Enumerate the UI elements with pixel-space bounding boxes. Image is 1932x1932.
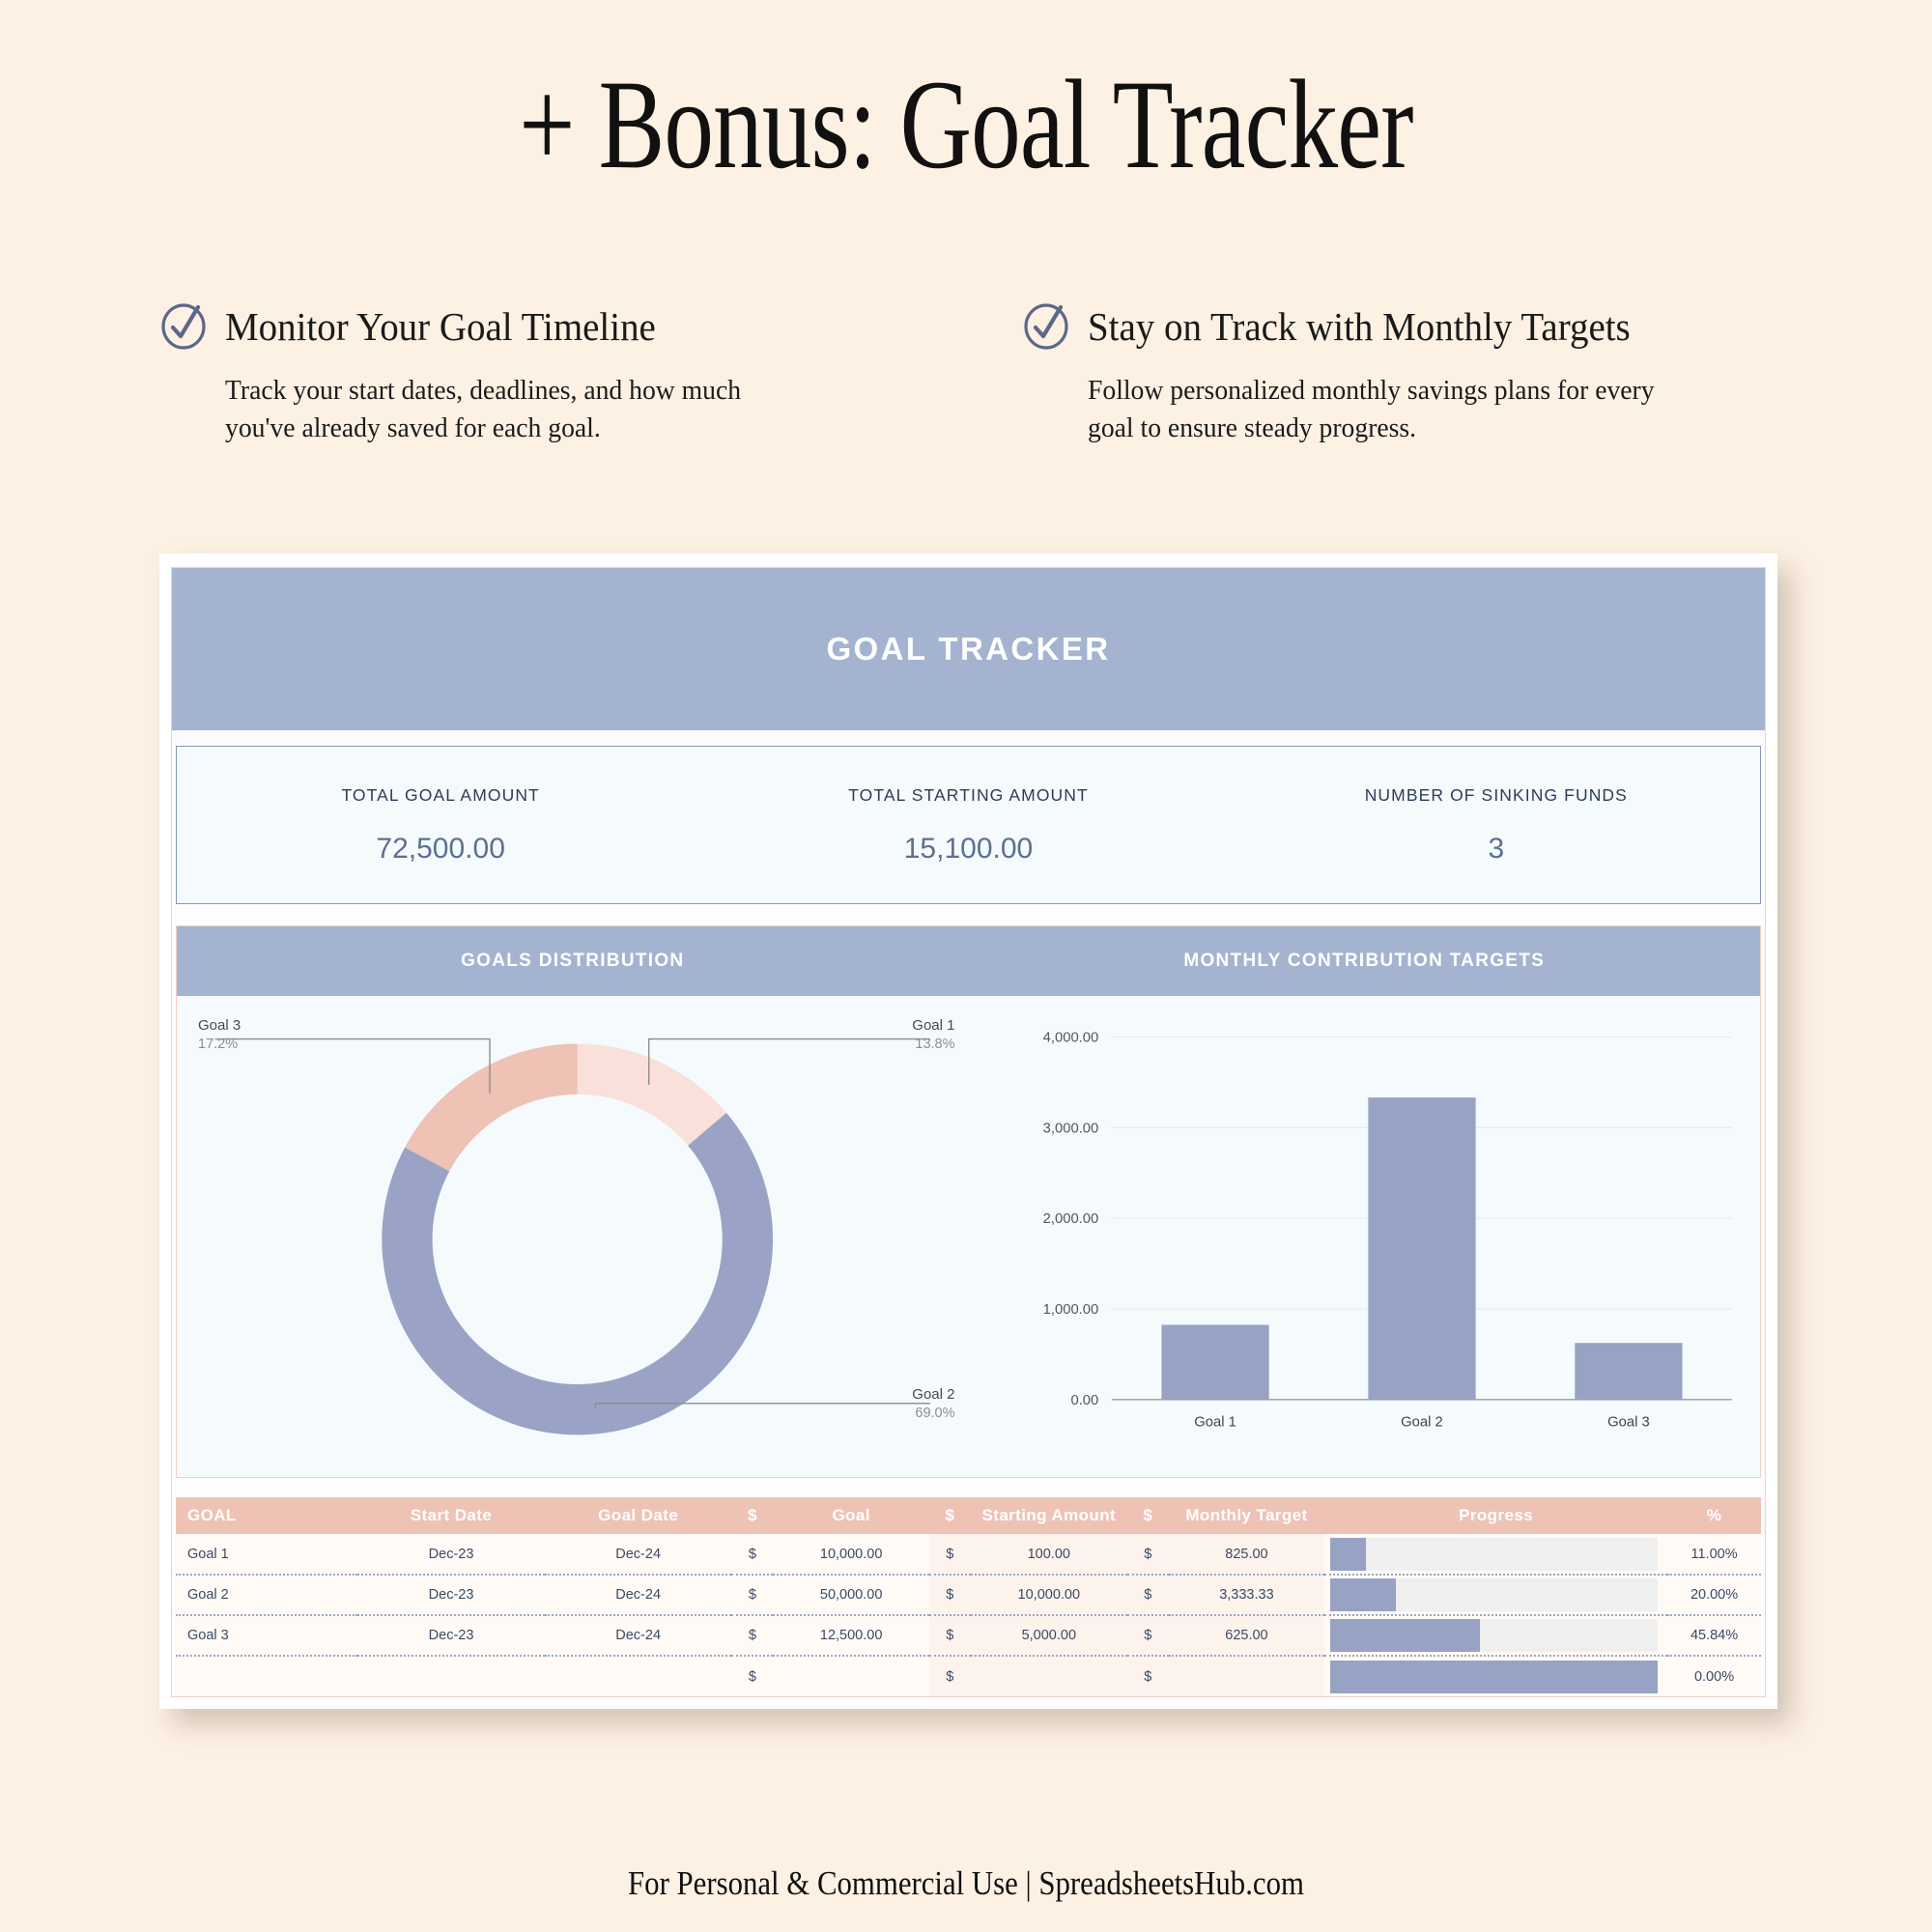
bar-chart-ytick-label: 2,000.00 [1042,1211,1098,1227]
feature-heading: Stay on Track with Monthly Targets [1022,302,1719,351]
cell-currency-2: $ [929,1656,971,1696]
bar-chart-ytick-label: 0.00 [1070,1393,1098,1408]
donut-label-goal-2: Goal 2 69.0% [912,1386,954,1422]
bar-goal-2 [1368,1097,1475,1400]
th-goal-date: Goal Date [545,1497,732,1534]
progress-bar-fill [1330,1661,1658,1693]
cell-goal-name [176,1656,357,1696]
table-body: Goal 1Dec-23Dec-24$10,000.00$100.00$825.… [176,1534,1761,1696]
summary-total-starting-amount: TOTAL STARTING AMOUNT 15,100.00 [704,747,1232,903]
feature-heading: Monitor Your Goal Timeline [159,302,904,351]
feature-description: Follow personalized monthly savings plan… [1088,372,1668,448]
sheet-banner: GOAL TRACKER [172,568,1765,730]
progress-bar-track [1330,1578,1658,1611]
feature-list: Monitor Your Goal Timeline Track your st… [0,302,1932,448]
footer-text: For Personal & Commercial Use | Spreadsh… [116,1864,1816,1903]
cell-percent: 0.00% [1667,1656,1761,1696]
donut-label-name: Goal 1 [912,1017,954,1034]
table-row: Goal 3Dec-23Dec-24$12,500.00$5,000.00$62… [176,1615,1761,1656]
th-goal-amount: Goal [773,1497,928,1534]
bar-chart-ytick-label: 1,000.00 [1042,1302,1098,1318]
cell-starting-amount [971,1656,1127,1696]
summary-value: 3 [1488,833,1504,866]
cell-goal-date [545,1656,732,1696]
feature-item-monthly-targets: Stay on Track with Monthly Targets Follo… [974,302,1788,448]
bar-chart-xtick-label: Goal 2 [1401,1414,1443,1430]
bar-chart-ytick-label: 3,000.00 [1042,1121,1098,1136]
cell-percent: 20.00% [1667,1575,1761,1615]
progress-bar-track [1330,1538,1658,1571]
bar-chart-xtick-label: Goal 1 [1194,1414,1236,1430]
page-title: + Bonus: Goal Tracker [213,0,1719,198]
cell-progress [1324,1575,1667,1615]
table-row: $$$0.00% [176,1656,1761,1696]
cell-currency-1: $ [731,1534,773,1575]
cell-percent: 45.84% [1667,1615,1761,1656]
summary-number-of-sinking-funds: NUMBER OF SINKING FUNDS 3 [1233,747,1760,903]
donut-label-percent: 13.8% [912,1036,954,1053]
cell-goal-date: Dec-24 [545,1575,732,1615]
feature-title: Stay on Track with Monthly Targets [1088,303,1631,350]
cell-percent: 11.00% [1667,1534,1761,1575]
check-circle-icon [1022,302,1070,351]
summary-total-goal-amount: TOTAL GOAL AMOUNT 72,500.00 [177,747,704,903]
cell-monthly-target: 825.00 [1169,1534,1324,1575]
cell-currency-2: $ [929,1575,971,1615]
table-row: Goal 1Dec-23Dec-24$10,000.00$100.00$825.… [176,1534,1761,1575]
cell-start-date: Dec-23 [357,1575,545,1615]
feature-title: Monitor Your Goal Timeline [225,303,656,350]
summary-label: NUMBER OF SINKING FUNDS [1365,785,1628,806]
cell-currency-3: $ [1127,1575,1169,1615]
cell-goal-name: Goal 2 [176,1575,357,1615]
bar-chart-ytick-label: 4,000.00 [1042,1031,1098,1046]
cell-currency-2: $ [929,1534,971,1575]
progress-bar-track [1330,1661,1658,1693]
cell-start-date [357,1656,545,1696]
cell-goal-name: Goal 1 [176,1534,357,1575]
donut-callout-labels: Goal 3 17.2% Goal 1 13.8% Goal 2 69.0% [177,996,969,1477]
goal-tracker-sheet: GOAL TRACKER TOTAL GOAL AMOUNT 72,500.00… [171,567,1766,1697]
cell-goal-amount: 10,000.00 [773,1534,928,1575]
th-progress: Progress [1324,1497,1667,1534]
feature-description: Track your start dates, deadlines, and h… [225,372,806,448]
th-goal: GOAL [176,1497,357,1534]
cell-progress [1324,1534,1667,1575]
table-header-row: GOAL Start Date Goal Date $ Goal $ Start… [176,1497,1761,1534]
feature-item-monitor-goal-timeline: Monitor Your Goal Timeline Track your st… [159,302,974,448]
bar-goal-3 [1575,1343,1682,1400]
cell-start-date: Dec-23 [357,1534,545,1575]
goals-data-table: GOAL Start Date Goal Date $ Goal $ Start… [176,1497,1761,1696]
cell-currency-3: $ [1127,1656,1169,1696]
cell-goal-amount [773,1656,928,1696]
donut-label-name: Goal 3 [198,1017,241,1034]
charts-panel: GOALS DISTRIBUTION MONTHLY CONTRIBUTION … [176,925,1761,1478]
th-starting-amount: Starting Amount [971,1497,1127,1534]
cell-monthly-target: 625.00 [1169,1615,1324,1656]
summary-bar: TOTAL GOAL AMOUNT 72,500.00 TOTAL STARTI… [176,746,1761,904]
cell-currency-3: $ [1127,1534,1169,1575]
summary-value: 15,100.00 [904,833,1033,866]
check-circle-icon [159,302,208,351]
bar-chart-xtick-label: Goal 3 [1607,1414,1650,1430]
th-start-date: Start Date [357,1497,545,1534]
bar-goal-1 [1161,1324,1268,1399]
cell-goal-date: Dec-24 [545,1534,732,1575]
cell-currency-1: $ [731,1615,773,1656]
th-currency-3: $ [1127,1497,1169,1534]
progress-bar-track [1330,1619,1658,1652]
cell-goal-name: Goal 3 [176,1615,357,1656]
summary-label: TOTAL STARTING AMOUNT [848,785,1089,806]
cell-starting-amount: 100.00 [971,1534,1127,1575]
goals-distribution-donut-chart: Goal 3 17.2% Goal 1 13.8% Goal 2 69.0% [177,996,969,1477]
cell-starting-amount: 5,000.00 [971,1615,1127,1656]
summary-value: 72,500.00 [376,833,504,866]
bar-chart-svg: 0.001,000.002,000.003,000.004,000.00Goal… [969,996,1761,1477]
charts-header-goals-distribution: GOALS DISTRIBUTION [177,926,969,996]
progress-bar-fill [1330,1619,1480,1652]
cell-currency-3: $ [1127,1615,1169,1656]
charts-header-row: GOALS DISTRIBUTION MONTHLY CONTRIBUTION … [177,926,1760,996]
donut-label-percent: 69.0% [912,1405,954,1422]
cell-goal-amount: 50,000.00 [773,1575,928,1615]
donut-label-percent: 17.2% [198,1036,241,1053]
cell-monthly-target: 3,333.33 [1169,1575,1324,1615]
th-currency-2: $ [929,1497,971,1534]
cell-goal-date: Dec-24 [545,1615,732,1656]
cell-progress [1324,1656,1667,1696]
sheet-banner-title: GOAL TRACKER [826,631,1110,668]
cell-start-date: Dec-23 [357,1615,545,1656]
donut-label-name: Goal 2 [912,1386,954,1403]
monthly-contribution-bar-chart: 0.001,000.002,000.003,000.004,000.00Goal… [969,996,1761,1477]
donut-label-goal-3: Goal 3 17.2% [198,1017,241,1053]
summary-label: TOTAL GOAL AMOUNT [341,785,539,806]
spreadsheet-card: GOAL TRACKER TOTAL GOAL AMOUNT 72,500.00… [159,554,1777,1709]
cell-currency-1: $ [731,1656,773,1696]
charts-header-monthly-contribution-targets: MONTHLY CONTRIBUTION TARGETS [969,926,1761,996]
cell-progress [1324,1615,1667,1656]
cell-starting-amount: 10,000.00 [971,1575,1127,1615]
cell-goal-amount: 12,500.00 [773,1615,928,1656]
cell-currency-2: $ [929,1615,971,1656]
donut-label-goal-1: Goal 1 13.8% [912,1017,954,1053]
cell-monthly-target [1169,1656,1324,1696]
cell-currency-1: $ [731,1575,773,1615]
table-row: Goal 2Dec-23Dec-24$50,000.00$10,000.00$3… [176,1575,1761,1615]
th-monthly-target: Monthly Target [1169,1497,1324,1534]
th-currency-1: $ [731,1497,773,1534]
progress-bar-fill [1330,1538,1366,1571]
progress-bar-fill [1330,1578,1396,1611]
th-percent: % [1667,1497,1761,1534]
